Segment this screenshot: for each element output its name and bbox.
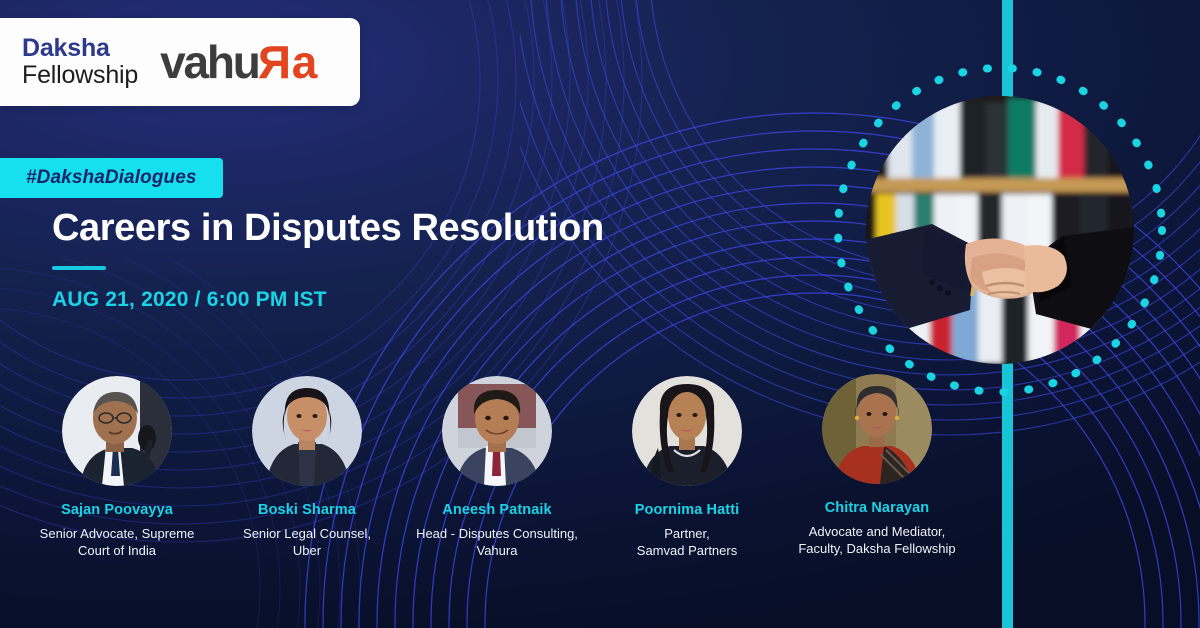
speaker-role: Advocate and Mediator, Faculty, Daksha F… [798,523,955,557]
speaker-name: Aneesh Patnaik [442,502,551,518]
daksha-fellowship-logo: Daksha Fellowship [0,35,138,89]
speaker-role: Senior Legal Counsel, Uber [243,525,371,559]
speaker-avatar [822,374,932,484]
event-datetime: AUG 21, 2020 / 6:00 PM IST [52,288,327,312]
speaker-role: Partner, Samvad Partners [637,525,737,559]
hero-handshake-photo [866,96,1134,364]
speaker-card: Boski Sharma Senior Legal Counsel, Uber [212,376,402,559]
daksha-logo-line1: Daksha [22,35,138,62]
vahura-logo: vahu R a [160,35,315,89]
speakers-row: Sajan Poovayya Senior Advocate, Supreme … [22,376,972,559]
daksha-logo-line2: Fellowship [22,62,138,89]
speaker-card: Sajan Poovayya Senior Advocate, Supreme … [22,376,212,559]
hero-image-group [828,58,1172,402]
speaker-avatar [62,376,172,486]
speaker-name: Chitra Narayan [825,500,930,516]
speaker-name: Poornima Hatti [635,502,740,518]
vahura-logo-mirrored-r: R [260,35,291,89]
vahura-logo-text-dark: vahu [160,35,259,89]
speaker-name: Boski Sharma [258,502,356,518]
speaker-card: Chitra Narayan Advocate and Mediator, Fa… [782,374,972,559]
speaker-avatar [632,376,742,486]
speaker-avatar [252,376,362,486]
speaker-avatar [442,376,552,486]
page-title: Careers in Disputes Resolution [52,207,604,250]
event-poster: Daksha Fellowship vahu R a #DakshaDialog… [0,0,1200,628]
hashtag-badge: #DakshaDialogues [0,158,223,198]
speaker-role: Senior Advocate, Supreme Court of India [40,525,195,559]
speaker-card: Aneesh Patnaik Head - Disputes Consultin… [402,376,592,559]
vahura-logo-text-orange: a [292,35,315,89]
speaker-name: Sajan Poovayya [61,502,173,518]
speaker-role: Head - Disputes Consulting, Vahura [416,525,578,559]
speaker-card: Poornima Hatti Partner, Samvad Partners [592,376,782,559]
logo-lockup-card: Daksha Fellowship vahu R a [0,18,360,106]
title-underline-rule [52,266,106,270]
